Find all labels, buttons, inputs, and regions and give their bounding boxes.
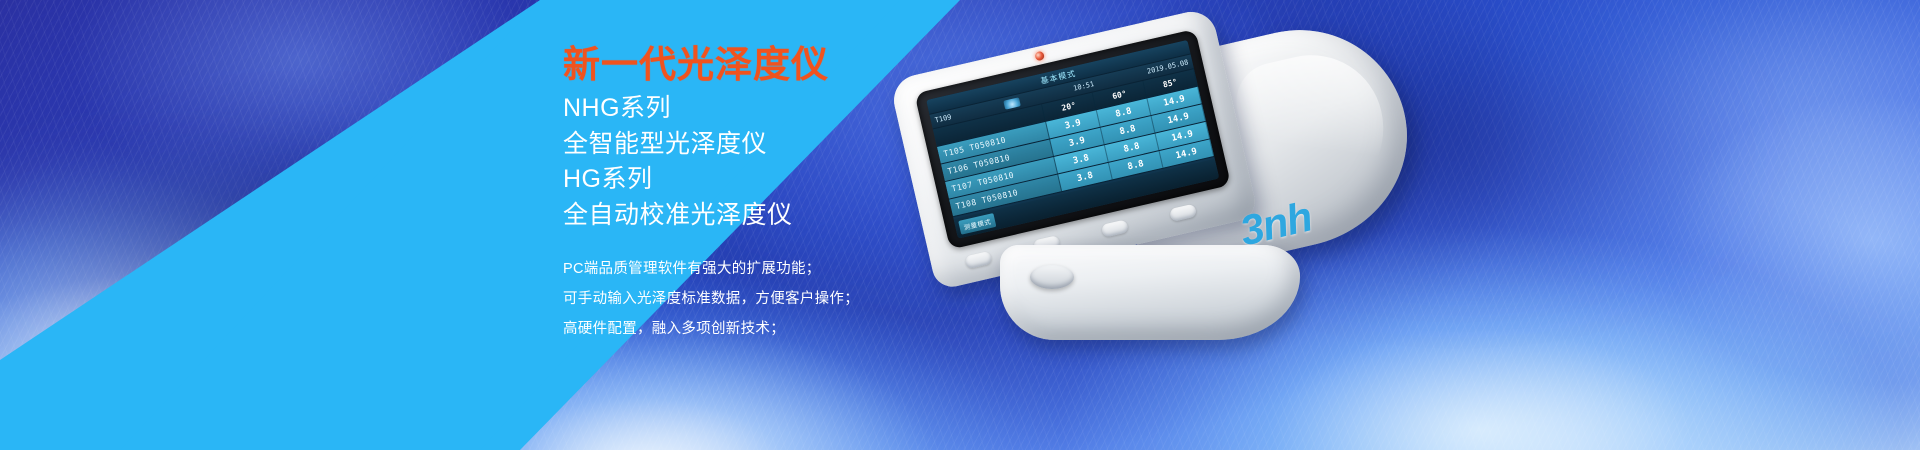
key-left[interactable] (964, 251, 992, 270)
measure-mode-button[interactable]: 测量模式 (958, 213, 996, 235)
device-body: 基本模式 T109 10:51 2019.05.08 20° 60° 85° (889, 0, 1421, 403)
lcd-current-sample: T109 (934, 113, 952, 125)
lcd-clock: 10:51 (1073, 80, 1095, 93)
key-enter[interactable] (1101, 219, 1129, 238)
device-probe-base (1000, 245, 1300, 340)
gloss-meter-device: 基本模式 T109 10:51 2019.05.08 20° 60° 85° (880, 10, 1440, 410)
power-led-icon (1034, 51, 1045, 62)
key-right[interactable] (1169, 204, 1197, 223)
measure-icon (1004, 97, 1022, 109)
measure-trigger-button[interactable] (1030, 265, 1074, 289)
product-banner: 新一代光泽度仪 NHG系列 全智能型光泽度仪 HG系列 全自动校准光泽度仪 PC… (0, 0, 1920, 450)
